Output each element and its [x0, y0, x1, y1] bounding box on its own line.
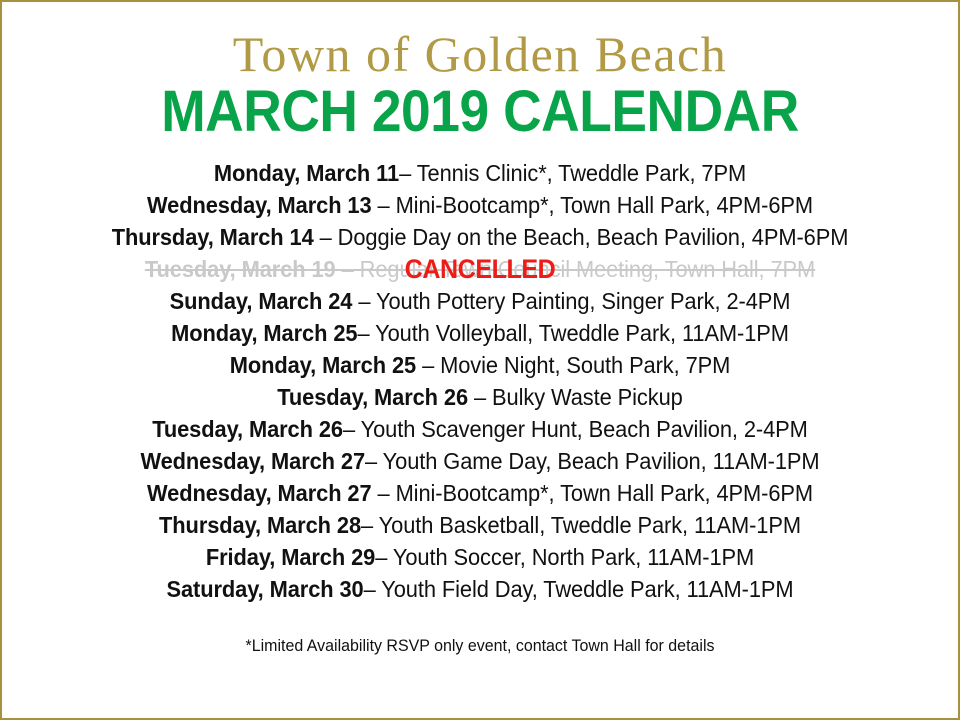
event-description: – Youth Scavenger Hunt, Beach Pavilion, … — [343, 416, 808, 442]
event-description: – Mini-Bootcamp*, Town Hall Park, 4PM-6P… — [372, 192, 813, 218]
town-name-title: Town of Golden Beach — [2, 28, 958, 81]
event-row: Sunday, March 24 – Youth Pottery Paintin… — [45, 285, 915, 317]
event-row: Monday, March 25 – Movie Night, South Pa… — [45, 349, 915, 381]
event-date: Saturday, March 30 — [166, 576, 363, 602]
event-date: Wednesday, March 27 — [147, 480, 372, 506]
event-row: Wednesday, March 27– Youth Game Day, Bea… — [45, 445, 915, 477]
event-row: Tuesday, March 19 – Regular Town Council… — [45, 253, 915, 285]
event-date: Tuesday, March 19 — [145, 256, 336, 282]
event-description: – Youth Soccer, North Park, 11AM-1PM — [375, 544, 754, 570]
event-date: Tuesday, March 26 — [277, 384, 468, 410]
event-description: – Youth Field Day, Tweddle Park, 11AM-1P… — [364, 576, 794, 602]
flyer-header: Town of Golden Beach MARCH 2019 CALENDAR — [2, 2, 958, 141]
event-description: – Movie Night, South Park, 7PM — [416, 352, 730, 378]
footnote-text: *Limited Availability RSVP only event, c… — [31, 635, 930, 657]
event-date: Monday, March 25 — [171, 320, 357, 346]
event-row: Thursday, March 28– Youth Basketball, Tw… — [45, 509, 915, 541]
event-row: Thursday, March 14 – Doggie Day on the B… — [45, 221, 915, 253]
event-date: Tuesday, March 26 — [152, 416, 343, 442]
event-row: Saturday, March 30– Youth Field Day, Twe… — [45, 573, 915, 605]
event-date: Friday, March 29 — [206, 544, 375, 570]
event-description: – Regular Town Council Meeting, Town Hal… — [336, 256, 816, 282]
event-row: Wednesday, March 27 – Mini-Bootcamp*, To… — [45, 477, 915, 509]
event-date: Monday, March 25 — [230, 352, 416, 378]
event-description: – Mini-Bootcamp*, Town Hall Park, 4PM-6P… — [372, 480, 813, 506]
event-row: Tuesday, March 26– Youth Scavenger Hunt,… — [45, 413, 915, 445]
event-date: Thursday, March 14 — [112, 224, 314, 250]
event-date: Wednesday, March 27 — [140, 448, 365, 474]
event-date: Thursday, March 28 — [159, 512, 361, 538]
event-description: – Youth Basketball, Tweddle Park, 11AM-1… — [361, 512, 801, 538]
calendar-month-title: MARCH 2019 CALENDAR — [40, 83, 920, 141]
event-description: – Doggie Day on the Beach, Beach Pavilio… — [314, 224, 849, 250]
event-row: Friday, March 29– Youth Soccer, North Pa… — [45, 541, 915, 573]
event-date: Monday, March 11 — [214, 160, 399, 186]
event-description: – Youth Volleyball, Tweddle Park, 11AM-1… — [357, 320, 788, 346]
event-description: – Bulky Waste Pickup — [468, 384, 683, 410]
event-list: Monday, March 11– Tennis Clinic*, Tweddl… — [2, 157, 958, 605]
event-row: Monday, March 25– Youth Volleyball, Twed… — [45, 317, 915, 349]
event-description: – Youth Game Day, Beach Pavilion, 11AM-1… — [365, 448, 819, 474]
event-date: Wednesday, March 13 — [147, 192, 372, 218]
event-row: Wednesday, March 13 – Mini-Bootcamp*, To… — [45, 189, 915, 221]
event-row: Tuesday, March 26 – Bulky Waste Pickup — [45, 381, 915, 413]
event-date: Sunday, March 24 — [170, 288, 353, 314]
event-description: – Tennis Clinic*, Tweddle Park, 7PM — [399, 160, 746, 186]
event-description: – Youth Pottery Painting, Singer Park, 2… — [352, 288, 790, 314]
event-row: Monday, March 11– Tennis Clinic*, Tweddl… — [45, 157, 915, 189]
calendar-flyer: Town of Golden Beach MARCH 2019 CALENDAR… — [0, 0, 960, 720]
